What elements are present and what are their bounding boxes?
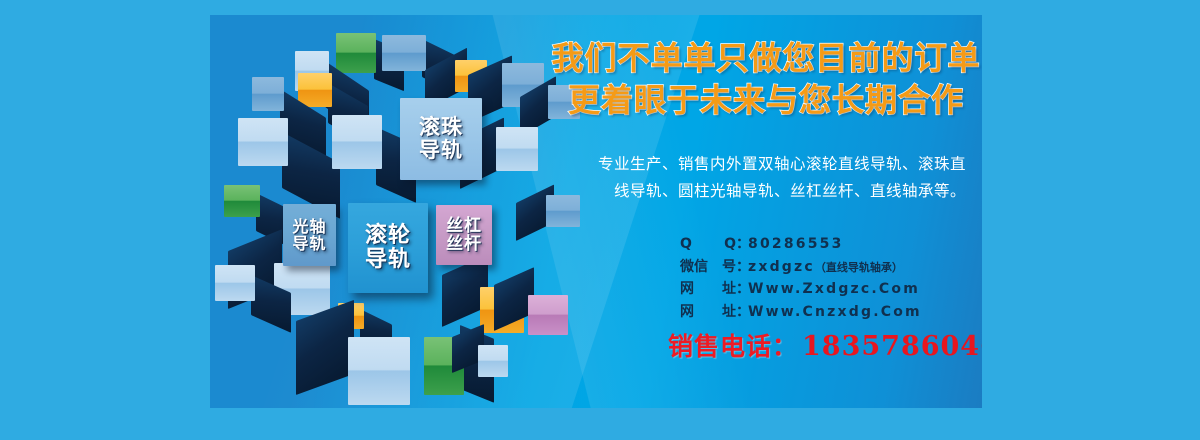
contact-label-wechat-b: 号 [722,256,736,279]
product-box-guangzhou-daogui[interactable]: 光轴 导轨 [283,204,336,266]
contact-value-website-2[interactable]: Www.Cnzxdg.Com [748,301,922,324]
contact-note-wechat: （直线导轨轴承） [815,259,903,277]
copy-column: 我们不单单只做您目前的订单 更着眼于未来与您长期合作 专业生产、销售内外置双轴心… [550,15,982,408]
sales-phone-label: 销售电话： [668,327,798,363]
contact-row-wechat[interactable]: 微信 号 ： zxdgzc （直线导轨轴承） [680,256,980,279]
contact-label-website-1-b: 址 [722,278,736,301]
contact-label-wechat: 微信 号 [680,256,736,279]
headline-line-1: 我们不单单只做您目前的订单 [550,37,982,79]
cube-pale-bottom [348,337,410,405]
contact-label-website-2: 网 址 [680,301,736,324]
contact-label-website-2-b: 址 [722,301,736,324]
product-box-sigang-line2: 丝杆 [446,235,482,253]
contact-label-website-1: 网 址 [680,278,736,301]
cube-blue-bottom-right [478,345,508,377]
product-box-sigang-line1: 丝杠 [446,217,482,235]
contact-colon-website-2: ： [736,301,748,324]
contact-label-qq-a: Q [680,233,692,256]
cube-pale-right-mid [496,127,538,171]
contact-label-website-2-a: 网 [680,301,694,324]
cube-green-left [224,185,260,217]
contact-label-qq-b: Q [724,233,736,256]
contact-value-qq[interactable]: 80286553 [748,233,844,256]
banner-panel: 滚珠 导轨 光轴 导轨 滚轮 导轨 丝杠 丝杆 我们不单单只做您目前的订单 更着… [210,15,982,408]
cube-orange-upper-left [298,73,332,107]
cube-blue-left-upper [252,77,284,111]
product-box-gunlun-line2: 导轨 [365,248,411,272]
contact-colon-qq: ： [736,233,748,256]
product-box-gunlun-daogui[interactable]: 滚轮 导轨 [348,203,428,293]
cube-pale-center-left [332,115,382,169]
contact-label-website-1-a: 网 [680,278,694,301]
sales-phone[interactable]: 销售电话： 18357860469 [668,327,982,363]
headline-line-2: 更着眼于未来与您长期合作 [550,79,982,121]
sales-phone-number[interactable]: 18357860469 [802,331,982,362]
product-box-gunzhu-line1: 滚珠 [419,116,463,139]
contact-label-wechat-a: 微信 [680,256,708,279]
product-box-guangzhou-line1: 光轴 [292,218,326,235]
cube-pale-left-mid [238,118,288,166]
cube-green-top [336,33,376,73]
contact-colon-website-1: ： [736,278,748,301]
cube-pale-far-lower-left [215,265,255,301]
product-box-sigang-sigan[interactable]: 丝杠 丝杆 [436,205,492,265]
product-box-gunlun-line1: 滚轮 [365,224,411,248]
product-box-gunzhu-line2: 导轨 [419,139,463,162]
contact-value-wechat[interactable]: zxdgzc [748,256,815,279]
contact-value-website-1[interactable]: Www.Zxdgzc.Com [748,278,920,301]
product-box-gunzhu-daogui[interactable]: 滚珠 导轨 [400,98,482,180]
description-text: 专业生产、销售内外置双轴心滚轮直线导轨、滚珠直线导轨、圆柱光轴导轨、丝杠丝杆、直… [598,151,966,204]
headline: 我们不单单只做您目前的订单 更着眼于未来与您长期合作 [550,37,982,121]
contact-row-website-2[interactable]: 网 址 ： Www.Cnzxdg.Com [680,301,980,324]
contact-row-website-1[interactable]: 网 址 ： Www.Zxdgzc.Com [680,278,980,301]
contact-row-qq[interactable]: Q Q ： 80286553 [680,233,980,256]
banner-root: 滚珠 导轨 光轴 导轨 滚轮 导轨 丝杠 丝杆 我们不单单只做您目前的订单 更着… [0,0,1200,440]
product-box-guangzhou-line2: 导轨 [292,235,326,252]
contact-list: Q Q ： 80286553 微信 号 ： zxdgzc （直线导轨轴承） [680,233,980,324]
contact-colon-wechat: ： [736,256,748,279]
contact-label-qq: Q Q [680,233,736,256]
cube-blue-top-right [382,35,426,71]
